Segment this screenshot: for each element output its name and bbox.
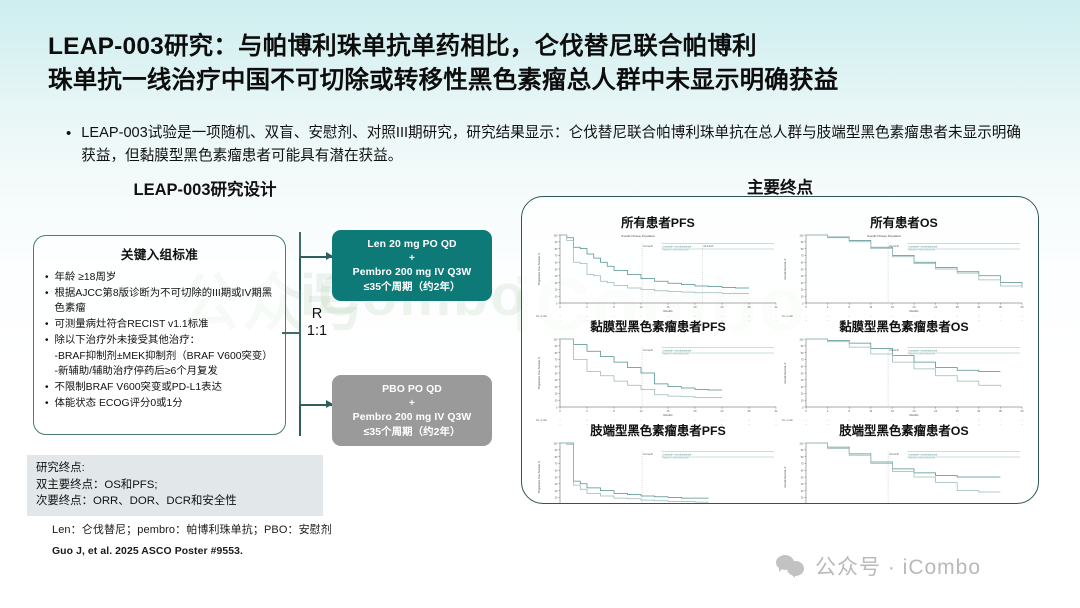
svg-text:90: 90 [801,241,804,244]
chart-mucosal-os: 黏膜型黑色素瘤患者OS 01020304050607080901000––4––… [780,333,1028,433]
svg-text:16: 16 [891,305,894,309]
svg-text:16: 16 [891,409,894,413]
svg-text:40: 40 [555,483,558,486]
svg-text:0: 0 [556,302,558,305]
chart-mucosal-pfs: 黏膜型黑色素瘤患者PFS 01020304050607080901000––4–… [534,333,782,433]
svg-text:20: 20 [555,497,558,500]
svg-text:30: 30 [555,386,558,389]
km-plot: 01020304050607080901000––4––8––12––16––2… [534,333,782,433]
svg-text:24: 24 [934,409,937,413]
endpoints-line2: 双主要终点：OS和PFS; [36,477,314,494]
svg-text:10: 10 [801,400,804,403]
arm-connector-bottom [299,404,301,436]
svg-text:0: 0 [802,302,804,305]
km-plot: 01020304050607080901000––4––8––12––16––2… [534,437,782,504]
svg-text:90: 90 [801,449,804,452]
wechat-account-label: 公众号 · iCombo [815,551,981,581]
svg-text:40: 40 [1021,305,1024,309]
svg-text:12-month: 12-month [643,245,653,248]
bullet-icon: • [45,317,49,332]
experimental-arm-line3: ≤35个周期（约2年） [364,280,461,295]
svg-text:36: 36 [999,305,1002,309]
svg-text:80: 80 [801,456,804,459]
svg-text:60: 60 [801,366,804,369]
svg-text:60: 60 [555,470,558,473]
svg-text:50: 50 [801,476,804,479]
svg-text:28: 28 [956,305,959,309]
svg-text:Overall Survival, %: Overall Survival, % [784,362,787,384]
svg-text:80: 80 [555,248,558,251]
svg-text:40: 40 [555,275,558,278]
svg-text:Progression-Free Survival, %: Progression-Free Survival, % [538,356,541,389]
study-design-heading: LEAP-003研究设计 [90,176,320,200]
svg-text:32: 32 [977,409,980,413]
criteria-item-text: 体能状态 ECOG评分0或1分 [55,398,183,409]
svg-text:40: 40 [801,379,804,382]
svg-text:10: 10 [555,504,558,505]
svg-text:Months: Months [663,413,673,417]
svg-text:70: 70 [555,463,558,466]
svg-text:32: 32 [775,305,778,309]
list-item: •体能状态 ECOG评分0或1分 [45,396,274,411]
svg-text:Progression-Free Survival, %: Progression-Free Survival, % [538,460,541,493]
svg-text:Lenvatinib + pembrolizumab: Lenvatinib + pembrolizumab [662,454,692,457]
svg-text:Placebo + pembrolizumab: Placebo + pembrolizumab [908,457,935,460]
svg-text:50: 50 [555,476,558,479]
experimental-arm-box: Len 20 mg PO QD + Pembro 200 mg IV Q3W ≤… [332,230,492,301]
page-title: LEAP-003研究：与帕博利珠单抗单药相比，仑伐替尼联合帕博利 珠单抗一线治疗… [48,30,1038,98]
svg-text:10: 10 [801,296,804,299]
control-arm-line3: ≤35个周期（约2年） [364,425,461,440]
svg-text:0: 0 [805,409,807,413]
svg-text:0: 0 [556,406,558,409]
svg-text:Progression-Free Survival, %: Progression-Free Survival, % [538,252,541,285]
key-inclusion-criteria-box: 关键入组标准 •年龄 ≥18周岁 •根据AJCC第8版诊断为不可切除的III期或… [33,235,286,435]
svg-text:50: 50 [801,372,804,375]
svg-text:90: 90 [555,449,558,452]
chart-acral-os: 肢端型黑色素瘤患者OS 01020304050607080901000––4––… [780,437,1028,504]
experimental-arm-plus: + [409,253,415,264]
svg-text:8: 8 [613,409,615,413]
svg-text:100: 100 [553,442,558,445]
svg-text:70: 70 [801,463,804,466]
arrow-to-control-arm-icon [300,404,332,406]
svg-text:8: 8 [848,409,850,413]
svg-text:20: 20 [694,409,697,413]
svg-text:32: 32 [775,409,778,413]
primary-endpoint-heading: 主要终点 [660,174,900,198]
svg-text:28: 28 [956,409,959,413]
km-plot: 01020304050607080901000––4––8––12––16––2… [780,229,1028,329]
arm-connector-top [299,256,301,290]
arrow-to-experimental-arm-icon [300,256,332,258]
bullet-icon: • [45,333,49,379]
svg-text:10: 10 [555,296,558,299]
criteria-subitem-text: -BRAF抑制剂±MEK抑制剂（BRAF V600突变） [55,349,274,364]
svg-text:12: 12 [869,409,872,413]
wechat-icon [776,554,806,578]
svg-text:80: 80 [555,456,558,459]
svg-text:50: 50 [555,268,558,271]
svg-text:24: 24 [934,305,937,309]
control-arm-line2: Pembro 200 mg IV Q3W [353,410,472,425]
svg-text:60: 60 [801,470,804,473]
svg-text:0: 0 [559,305,561,309]
experimental-arm-line1: Len 20 mg PO QD [367,237,456,252]
bullet-icon: • [45,380,49,395]
svg-text:80: 80 [801,248,804,251]
bullet-marker-icon: • [66,122,71,168]
criteria-subitem-text: -新辅助/辅助治疗停药后≥6个月复发 [55,364,274,379]
svg-text:30: 30 [801,386,804,389]
page-title-line1: LEAP-003研究：与帕博利珠单抗单药相比，仑伐替尼联合帕博利 [48,33,757,60]
wechat-account-tag: 公众号 · iCombo [776,551,981,581]
criteria-item-text: 可测量病灶符合RECIST v1.1标准 [55,319,209,330]
svg-text:4: 4 [586,305,588,309]
svg-text:Lenvatinib + pembrolizumab: Lenvatinib + pembrolizumab [908,246,938,249]
svg-text:Placebo + pembrolizumab: Placebo + pembrolizumab [662,249,689,252]
criteria-item-text: 不限制BRAF V600突变或PD-L1表达 [55,382,222,393]
bullet-icon: • [45,396,49,411]
svg-text:100: 100 [553,338,558,341]
svg-text:20: 20 [801,393,804,396]
svg-text:12: 12 [640,305,643,309]
svg-text:Months: Months [909,309,919,313]
chart-acral-pfs: 肢端型黑色素瘤患者PFS 01020304050607080901000––4–… [534,437,782,504]
svg-text:32: 32 [977,305,980,309]
list-item: •可测量病灶符合RECIST v1.1标准 [45,317,274,332]
svg-text:24-month: 24-month [889,349,899,352]
svg-text:70: 70 [801,359,804,362]
svg-text:12: 12 [640,409,643,413]
svg-text:0: 0 [805,305,807,309]
svg-text:Overall Chinese Population: Overall Chinese Population [867,234,901,238]
chart-all-patients-pfs: 所有患者PFS 01020304050607080901000––4––8––1… [534,229,782,329]
svg-text:12: 12 [869,305,872,309]
svg-text:100: 100 [799,234,804,237]
control-arm-line1: PBO PO QD [382,382,442,397]
svg-text:28: 28 [748,409,751,413]
svg-text:20: 20 [555,393,558,396]
criteria-item-text: 年龄 ≥18周岁 [55,272,117,283]
km-plot: 01020304050607080901000––4––8––12––16––2… [780,333,1028,433]
svg-text:28: 28 [748,305,751,309]
svg-text:40: 40 [801,275,804,278]
svg-text:Months: Months [909,413,919,417]
km-plot: 01020304050607080901000––4––8––12––16––2… [534,229,782,329]
svg-text:12-month: 12-month [643,453,653,456]
summary-bullet: • LEAP-003试验是一项随机、双盲、安慰剂、对照III期研究，研究结果显示… [66,122,1026,168]
svg-text:4: 4 [586,409,588,413]
experimental-arm-line2: Pembro 200 mg IV Q3W [353,265,472,280]
svg-text:60: 60 [555,262,558,265]
svg-text:36: 36 [999,409,1002,413]
svg-text:70: 70 [555,255,558,258]
svg-text:4: 4 [827,305,829,309]
svg-text:30: 30 [555,490,558,493]
svg-text:Lenvatinib + pembrolizumab: Lenvatinib + pembrolizumab [908,350,938,353]
svg-text:80: 80 [555,352,558,355]
svg-text:Months: Months [663,309,673,313]
svg-text:30: 30 [555,282,558,285]
svg-text:90: 90 [801,345,804,348]
svg-text:60: 60 [801,262,804,265]
svg-text:40: 40 [555,379,558,382]
svg-text:8: 8 [613,305,615,309]
svg-text:Overall Chinese Population: Overall Chinese Population [621,234,655,238]
svg-text:20: 20 [801,497,804,500]
randomization-r: R [312,306,322,322]
abbreviation-footnote: Len：仑伐替尼；pembro：帕博利珠单抗；PBO：安慰剂 [52,521,332,537]
svg-text:40: 40 [1021,409,1024,413]
bullet-icon: • [45,270,49,285]
svg-text:Placebo + pembrolizumab: Placebo + pembrolizumab [908,249,935,252]
svg-text:Placebo + pembrolizumab: Placebo + pembrolizumab [908,353,935,356]
criteria-title: 关键入组标准 [45,244,274,263]
svg-text:0: 0 [802,406,804,409]
page-title-line2: 珠单抗一线治疗中国不可切除或转移性黑色素瘤总人群中未显示明确获益 [48,64,1038,98]
svg-text:40: 40 [801,483,804,486]
svg-text:70: 70 [801,255,804,258]
randomization-ratio: 1:1 [307,323,327,339]
criteria-item-text: 除以下治疗外未接受其他治疗： [55,335,200,346]
citation-footnote: Guo J, et al. 2025 ASCO Poster #9553. [52,546,243,557]
svg-text:30: 30 [801,490,804,493]
svg-text:8: 8 [848,305,850,309]
svg-text:90: 90 [555,345,558,348]
svg-text:30: 30 [801,282,804,285]
svg-text:20: 20 [801,289,804,292]
svg-text:24-month: 24-month [889,245,899,248]
svg-text:100: 100 [799,338,804,341]
km-plot: 01020304050607080901000––4––8––12––16––2… [780,437,1028,504]
svg-text:24: 24 [721,305,724,309]
svg-text:Lenvatinib + pembrolizumab: Lenvatinib + pembrolizumab [662,350,692,353]
list-item: •年龄 ≥18周岁 [45,270,274,285]
svg-text:24-month: 24-month [704,245,714,248]
control-arm-plus: + [409,398,415,409]
svg-text:20: 20 [694,305,697,309]
slide-canvas: 公众号 iCombo iCombo LEAP-003研究：与帕博利珠单抗单药相比… [0,0,1080,608]
endpoints-line1: 研究终点: [36,460,314,477]
svg-text:70: 70 [555,359,558,362]
chart-all-patients-os: 所有患者OS 01020304050607080901000––4––8––12… [780,229,1028,329]
primary-endpoint-charts-panel: 所有患者PFS 01020304050607080901000––4––8––1… [521,196,1039,504]
list-item: •根据AJCC第8版诊断为不可切除的III期或IV期黑色素瘤 [45,286,274,317]
svg-text:90: 90 [555,241,558,244]
svg-text:20: 20 [555,289,558,292]
list-item: • 除以下治疗外未接受其他治疗： -BRAF抑制剂±MEK抑制剂（BRAF V6… [45,333,274,379]
list-item: •不限制BRAF V600突变或PD-L1表达 [45,380,274,395]
svg-text:100: 100 [799,442,804,445]
svg-text:50: 50 [801,268,804,271]
bullet-icon: • [45,286,49,317]
svg-text:0: 0 [559,409,561,413]
svg-text:100: 100 [553,234,558,237]
svg-text:24: 24 [721,409,724,413]
svg-text:24-month: 24-month [889,453,899,456]
control-arm-box: PBO PO QD + Pembro 200 mg IV Q3W ≤35个周期（… [332,375,492,446]
randomization-label: R 1:1 [302,306,332,339]
criteria-list: •年龄 ≥18周岁 •根据AJCC第8版诊断为不可切除的III期或IV期黑色素瘤… [45,270,274,411]
criteria-item-text: 根据AJCC第8版诊断为不可切除的III期或IV期黑色素瘤 [55,288,273,314]
summary-bullet-text: LEAP-003试验是一项随机、双盲、安慰剂、对照III期研究，研究结果显示：仑… [81,122,1026,168]
randomization-inlet-line [282,332,300,334]
svg-text:Overall Survival, %: Overall Survival, % [784,258,787,280]
svg-text:10: 10 [801,504,804,505]
svg-text:50: 50 [555,372,558,375]
svg-text:Placebo + pembrolizumab: Placebo + pembrolizumab [662,457,689,460]
svg-text:Overall Survival, %: Overall Survival, % [784,466,787,488]
svg-text:60: 60 [555,366,558,369]
svg-text:4: 4 [827,409,829,413]
svg-text:10: 10 [555,400,558,403]
svg-text:Lenvatinib + pembrolizumab: Lenvatinib + pembrolizumab [908,454,938,457]
svg-text:Placebo + pembrolizumab: Placebo + pembrolizumab [662,353,689,356]
svg-text:12-month: 12-month [643,349,653,352]
endpoints-line3: 次要终点：ORR、DOR、DCR和安全性 [36,493,314,510]
study-endpoints-box: 研究终点: 双主要终点：OS和PFS; 次要终点：ORR、DOR、DCR和安全性 [27,455,323,516]
svg-text:Lenvatinib + pembrolizumab: Lenvatinib + pembrolizumab [662,246,692,249]
svg-text:80: 80 [801,352,804,355]
